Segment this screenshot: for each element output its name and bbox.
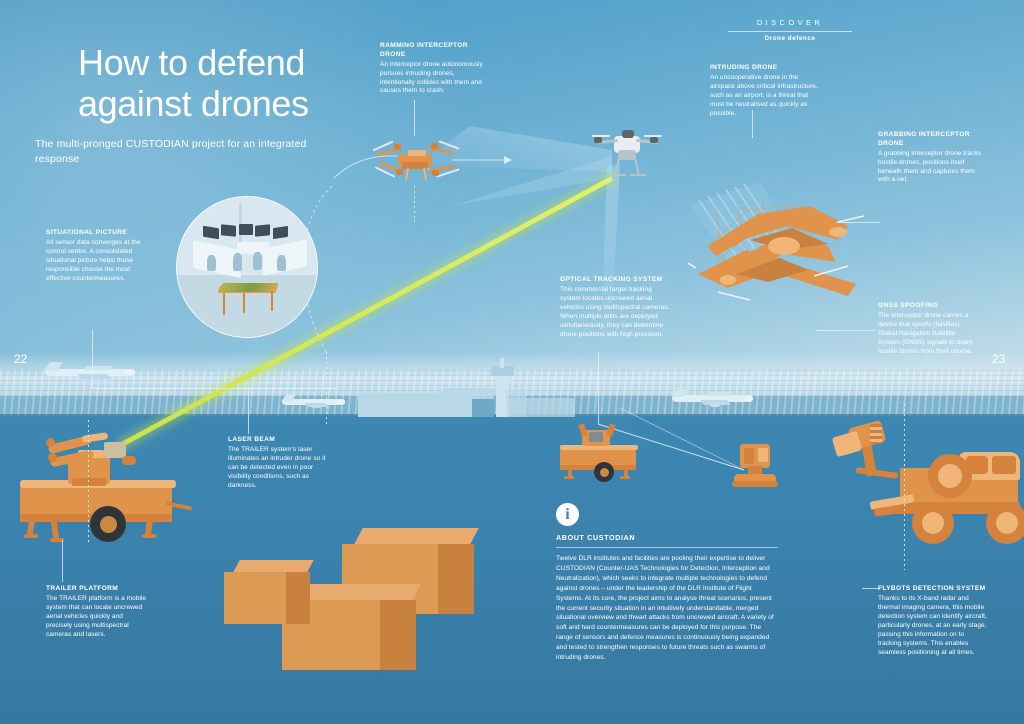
leader-line-situational — [92, 330, 93, 388]
callout-body: A grabbing interceptor drone tracks host… — [878, 150, 982, 186]
flybots-pickup-illustration — [826, 398, 1024, 568]
intruding-drone-illustration — [592, 122, 662, 184]
leader-line-dotted-pickup — [904, 404, 905, 570]
leader-line-ramming — [414, 100, 415, 136]
page-title: How to defend against drones — [78, 42, 309, 124]
about-heading: ABOUT CUSTODIAN — [556, 533, 778, 542]
trailer-platform-illustration — [6, 418, 196, 558]
leader-line-laser — [248, 386, 249, 434]
about-custodian-panel: ABOUT CUSTODIAN Twelve DLR institutes an… — [556, 533, 778, 663]
callout-heading: TRAILER PLATFORM — [46, 585, 150, 594]
leader-line-dotted-vertical — [326, 352, 327, 426]
leader-line-trailer — [62, 540, 63, 582]
control-room-illustration — [176, 196, 318, 338]
callout-heading: RAMMING INTERCEPTOR DRONE — [380, 42, 483, 59]
callout-intruding-drone: INTRUDING DRONE An uncooperative drone i… — [710, 64, 818, 119]
page-number-right: 23 — [992, 352, 1005, 366]
callout-grabbing-interceptor-drone: GRABBING INTERCEPTOR DRONE A grabbing in… — [878, 131, 982, 185]
leader-line-gnss — [816, 330, 876, 331]
discover-header: DISCOVER Drone defence — [700, 18, 880, 42]
airliner-silhouette-centre — [282, 394, 348, 410]
callout-laser-beam: LASER BEAM The TRAILER system's laser il… — [228, 436, 328, 491]
callout-heading: OPTICAL TRACKING SYSTEM — [560, 276, 672, 285]
callout-heading: INTRUDING DRONE — [710, 64, 818, 73]
page-title-line2: against drones — [78, 83, 309, 124]
callout-heading: GRABBING INTERCEPTOR DRONE — [878, 131, 982, 148]
optical-tracker-unit-illustration — [726, 438, 786, 496]
callout-body: This commercial target tracking system l… — [560, 286, 672, 339]
page-number-left: 22 — [14, 352, 27, 366]
leader-line-grabbing — [836, 222, 880, 223]
callout-body: An uncooperative drone in the airspace a… — [710, 74, 818, 119]
cargo-boxes-illustration — [240, 520, 500, 680]
callout-heading: FLYBOTS DETECTION SYSTEM — [878, 585, 988, 594]
discover-divider — [728, 31, 852, 32]
discover-section: Drone defence — [700, 35, 880, 42]
leader-line-dotted-ramming — [414, 186, 415, 222]
callout-situational-picture: SITUATIONAL PICTURE All sensor data conv… — [46, 229, 149, 284]
airliner-silhouette-right — [672, 390, 758, 408]
callout-body: Thanks to its X-band radar and thermal i… — [878, 595, 988, 657]
callout-optical-tracking-system: OPTICAL TRACKING SYSTEM This commercial … — [560, 276, 672, 340]
infographic-page: How to defend against drones The multi-p… — [0, 0, 1024, 724]
about-divider — [556, 547, 778, 548]
callout-heading: SITUATIONAL PICTURE — [46, 229, 149, 238]
callout-body: The TRAILER platform is a mobile system … — [46, 595, 150, 640]
callout-flybots-detection-system: FLYBOTS DETECTION SYSTEM Thanks to its X… — [878, 585, 988, 657]
leader-line-dotted-trailer — [88, 420, 89, 545]
ramming-interceptor-drone-illustration — [372, 138, 462, 186]
page-subtitle: The multi-pronged CUSTODIAN project for … — [35, 137, 335, 167]
page-title-line1: How to defend — [78, 42, 309, 83]
leader-line-situational-h — [92, 388, 336, 389]
leader-line-optical — [598, 352, 599, 424]
callout-body: An interceptor drone autonomously pursue… — [380, 61, 483, 97]
callout-body: All sensor data converges at the control… — [46, 239, 149, 284]
callout-trailer-platform: TRAILER PLATFORM The TRAILER platform is… — [46, 585, 150, 640]
discover-kicker: DISCOVER — [700, 18, 880, 27]
callout-body: The interceptor drone carries a device t… — [878, 312, 978, 357]
grabbing-interceptor-drone-illustration — [688, 188, 868, 306]
callout-heading: GNSS SPOOFING — [878, 302, 978, 311]
callout-gnss-spoofing: GNSS SPOOFING The interceptor drone carr… — [878, 302, 978, 357]
callout-heading: LASER BEAM — [228, 436, 328, 445]
about-body: Twelve DLR institutes and facilities are… — [556, 554, 778, 663]
info-icon: i — [556, 503, 579, 526]
callout-body: The TRAILER system's laser illuminates a… — [228, 446, 328, 491]
optical-tracker-vehicle-illustration — [556, 418, 646, 488]
callout-ramming-interceptor-drone: RAMMING INTERCEPTOR DRONE An interceptor… — [380, 42, 483, 96]
